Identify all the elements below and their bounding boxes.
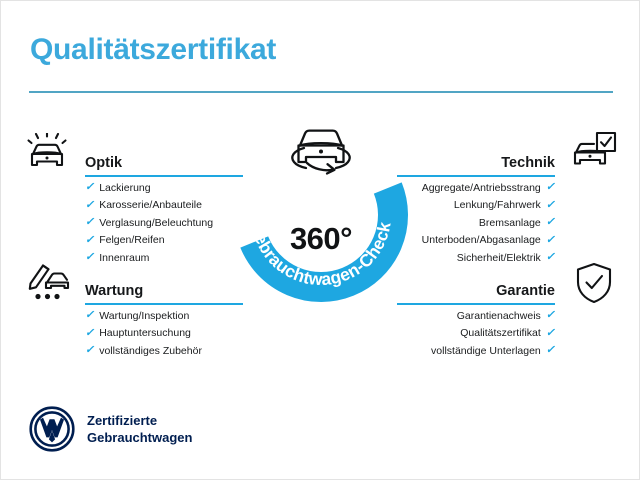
list-item: ✓Felgen/Reifen	[85, 232, 213, 250]
list-item-label: Garantienachweis	[457, 310, 541, 322]
car-shine-icon	[25, 133, 69, 178]
check-icon: ✓	[546, 345, 555, 356]
shield-check-icon	[575, 262, 613, 309]
list-item-label: Felgen/Reifen	[99, 234, 164, 246]
list-item: Qualitätszertifikat✓	[431, 325, 555, 343]
list-item: ✓vollständiges Zubehör	[85, 342, 202, 360]
check-icon: ✓	[546, 252, 555, 263]
list-item: Aggregate/Antriebsstrang✓	[422, 179, 555, 197]
car-rotate-360-icon	[283, 121, 359, 188]
section-wartung: Wartung ✓Wartung/Inspektion ✓Hauptunters…	[85, 277, 245, 301]
check-icon: ✓	[85, 182, 94, 193]
list-item-label: Bremsanlage	[479, 217, 541, 229]
check-icon: ✓	[546, 182, 555, 193]
check-icon: ✓	[546, 310, 555, 321]
list-item: Lenkung/Fahrwerk✓	[422, 197, 555, 215]
volkswagen-logo: Zertifizierte Gebrauchtwagen	[29, 406, 192, 452]
list-item: vollständige Unterlagen✓	[431, 342, 555, 360]
section-header: Wartung	[85, 277, 245, 301]
list-item-label: Lenkung/Fahrwerk	[454, 199, 541, 211]
list-item: ✓Hauptuntersuchung	[85, 325, 202, 343]
section-header: Technik	[390, 149, 555, 173]
section-title-garantie: Garantie	[496, 283, 555, 299]
list-item: Sicherheit/Elektrik✓	[422, 249, 555, 267]
section-header: Optik	[85, 149, 245, 173]
list-item-label: vollständiges Zubehör	[99, 345, 202, 357]
checklist-optik: ✓Lackierung ✓Karosserie/Anbauteile ✓Verg…	[85, 179, 213, 267]
vw-roundel-icon	[29, 406, 75, 452]
section-divider	[397, 175, 555, 177]
title-divider	[29, 91, 613, 93]
list-item: ✓Wartung/Inspektion	[85, 307, 202, 325]
check-icon: ✓	[546, 200, 555, 211]
list-item-label: Sicherheit/Elektrik	[457, 252, 541, 264]
check-icon: ✓	[85, 310, 94, 321]
certificate-page: Qualitätszertifikat	[0, 0, 640, 480]
list-item: ✓Innenraum	[85, 249, 213, 267]
check-icon: ✓	[85, 328, 94, 339]
check-icon: ✓	[546, 328, 555, 339]
section-title-optik: Optik	[85, 155, 122, 171]
check-icon: ✓	[546, 217, 555, 228]
list-item-label: vollständige Unterlagen	[431, 345, 541, 357]
section-technik: Technik Aggregate/Antriebsstrang✓ Lenkun…	[390, 149, 555, 173]
footer-line-2: Gebrauchtwagen	[87, 429, 192, 446]
section-title-wartung: Wartung	[85, 283, 143, 299]
list-item-label: Innenraum	[99, 252, 149, 264]
section-divider	[397, 303, 555, 305]
list-item-label: Wartung/Inspektion	[99, 310, 189, 322]
badge-360-check: Gebrauchtwagen-Check 360°	[229, 123, 413, 307]
section-title-technik: Technik	[501, 155, 555, 171]
section-garantie: Garantie Garantienachweis✓ Qualitätszert…	[390, 277, 555, 301]
section-header: Garantie	[390, 277, 555, 301]
check-icon: ✓	[85, 235, 94, 246]
check-icon: ✓	[85, 200, 94, 211]
list-item-label: Lackierung	[99, 182, 150, 194]
list-item-label: Verglasung/Beleuchtung	[99, 217, 213, 229]
list-item: Bremsanlage✓	[422, 214, 555, 232]
list-item: Unterboden/Abgasanlage✓	[422, 232, 555, 250]
section-divider	[85, 303, 243, 305]
list-item-label: Unterboden/Abgasanlage	[422, 234, 541, 246]
car-checkbox-icon	[571, 131, 617, 178]
list-item: ✓Karosserie/Anbauteile	[85, 197, 213, 215]
footer-line-1: Zertifizierte	[87, 412, 192, 429]
checklist-technik: Aggregate/Antriebsstrang✓ Lenkung/Fahrwe…	[422, 179, 555, 267]
list-item-label: Karosserie/Anbauteile	[99, 199, 202, 211]
checklist-garantie: Garantienachweis✓ Qualitätszertifikat✓ v…	[431, 307, 555, 360]
check-icon: ✓	[85, 217, 94, 228]
footer-brand-text: Zertifizierte Gebrauchtwagen	[87, 412, 192, 446]
list-item: Garantienachweis✓	[431, 307, 555, 325]
list-item-label: Aggregate/Antriebsstrang	[422, 182, 541, 194]
section-optik: Optik ✓Lackierung ✓Karosserie/Anbauteile…	[85, 149, 245, 173]
badge-degrees-label: 360°	[229, 221, 413, 257]
list-item: ✓Verglasung/Beleuchtung	[85, 214, 213, 232]
list-item-label: Qualitätszertifikat	[460, 327, 541, 339]
service-book-pen-car-icon	[25, 262, 71, 307]
check-icon: ✓	[85, 345, 94, 356]
page-title: Qualitätszertifikat	[30, 33, 276, 67]
section-divider	[85, 175, 243, 177]
list-item-label: Hauptuntersuchung	[99, 327, 191, 339]
check-icon: ✓	[85, 252, 94, 263]
check-icon: ✓	[546, 235, 555, 246]
list-item: ✓Lackierung	[85, 179, 213, 197]
checklist-wartung: ✓Wartung/Inspektion ✓Hauptuntersuchung ✓…	[85, 307, 202, 360]
